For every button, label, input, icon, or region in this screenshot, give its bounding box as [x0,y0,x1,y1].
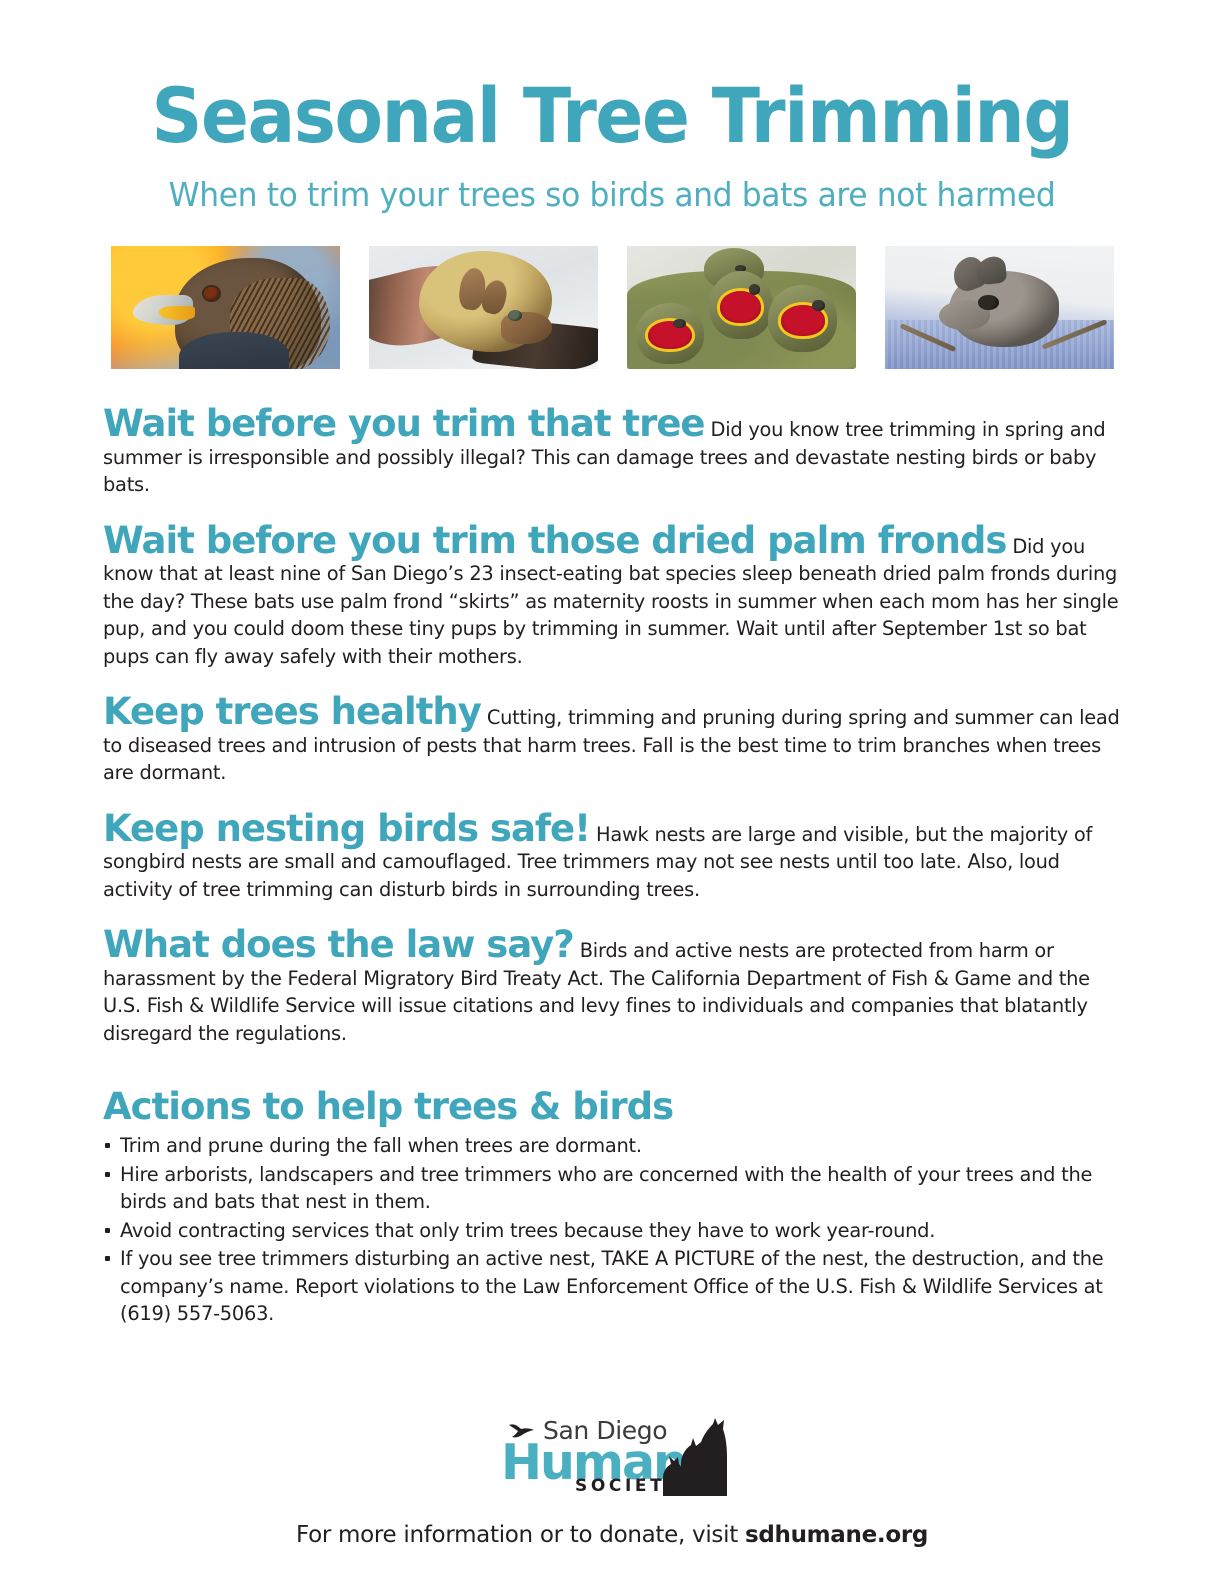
footer: San Diego Humane SOCIETY For more inform… [0,1404,1224,1584]
nestling-right [768,285,837,351]
section-paragraph: Keep trees healthyCutting, trimming and … [103,698,1121,787]
page-title: Seasonal Tree Trimming [43,0,1181,154]
yellow-bat-eye [508,310,522,321]
list-item: Hire arborists, landscapers and tree tri… [103,1161,1121,1216]
section-what-does-the-law-say: What does the law say?Birds and active n… [103,931,1121,1047]
list-item: If you see tree trimmers disturbing an a… [103,1245,1121,1328]
footer-note-text: For more information or to donate, visit [296,1522,745,1548]
gray-bat-photo [885,246,1114,369]
section-heading: Keep nesting birds safe! [103,807,596,850]
footer-website[interactable]: sdhumane.org [745,1522,928,1548]
footer-note: For more information or to donate, visit… [0,1522,1224,1548]
content-area: Wait before you trim that treeDid you kn… [103,369,1121,1328]
photo-strip [0,246,1224,369]
section-wait-before-you-trim-that-tree: Wait before you trim that treeDid you kn… [103,410,1121,499]
nestling-center [709,271,773,340]
nestling-birds-photo [627,246,856,369]
section-heading: Keep trees healthy [103,690,487,733]
page-subtitle: When to trim your trees so birds and bat… [31,154,1194,211]
section-paragraph: Keep nesting birds safe!Hawk nests are l… [103,815,1121,904]
section-paragraph: Wait before you trim those dried palm fr… [103,527,1121,671]
logo-wrap: San Diego Humane SOCIETY [0,1404,1224,1496]
actions-list: Trim and prune during the fall when tree… [103,1132,1121,1328]
poster-page: Seasonal Tree Trimming When to trim your… [0,0,1224,1584]
section-heading: What does the law say? [103,923,580,966]
section-keep-nesting-birds-safe: Keep nesting birds safe!Hawk nests are l… [103,815,1121,904]
section-paragraph: What does the law say?Birds and active n… [103,931,1121,1047]
yellow-bat-photo [369,246,598,369]
hawk-photo [111,246,340,369]
actions-heading: Actions to help trees & birds [103,1087,1121,1128]
list-item: Avoid contracting services that only tri… [103,1217,1121,1245]
list-item: Trim and prune during the fall when tree… [103,1132,1121,1160]
gray-bat-eye [978,295,999,310]
section-keep-trees-healthy: Keep trees healthyCutting, trimming and … [103,698,1121,787]
hawk-breast [179,332,289,369]
nestling-left [636,303,705,365]
animal-silhouettes-icon [655,1416,727,1496]
hawk-cere [159,306,196,320]
section-paragraph: Wait before you trim that treeDid you kn… [103,410,1121,499]
section-wait-before-you-trim-those-dried-palm-fronds: Wait before you trim those dried palm fr… [103,527,1121,671]
section-heading: Wait before you trim those dried palm fr… [103,519,1012,562]
section-actions: Actions to help trees & birds Trim and p… [103,1087,1121,1327]
san-diego-humane-society-logo[interactable]: San Diego Humane SOCIETY [501,1410,723,1496]
section-heading: Wait before you trim that tree [103,402,711,445]
